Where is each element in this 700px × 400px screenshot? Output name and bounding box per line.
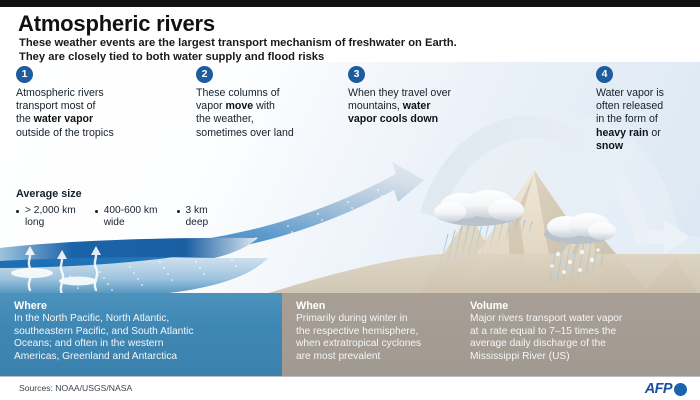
step-3-highlight-a: water [403,100,431,112]
average-size-item-width: 400-600 km wide [95,205,158,230]
afp-logo-text: AFP [645,381,672,397]
fact-panels: Where In the North Pacific, North Atlant… [0,293,700,376]
step-1-badge: 1 [16,66,33,83]
step-2-line3: the weather, [196,113,254,125]
step-2-badge: 2 [196,66,213,83]
panel-where: Where In the North Pacific, North Atlant… [0,293,282,376]
step-4-badge: 4 [596,66,613,83]
step-1-line1: Atmospheric rivers [16,87,104,99]
step-1-line2: transport most of [16,100,95,112]
step-4-highlight-a: heavy rain [596,127,648,139]
step-4-line2: often released [596,100,663,112]
step-1: 1 Atmospheric riverstransport most ofthe… [16,66,166,140]
average-size-item-depth: 3 km deep [177,205,209,230]
step-4-highlight-b: snow [596,140,623,152]
panel-where-heading: Where [14,300,273,312]
panel-where-body: In the North Pacific, North Atlantic, so… [14,313,273,363]
average-size-items: > 2,000 km long 400-600 km wide 3 km dee… [16,205,266,230]
step-1-highlight: water vapor [34,113,93,125]
step-3: 3 When they travel overmountains, waterv… [348,66,508,127]
step-4-line1: Water vapor is [596,87,664,99]
step-2-line2-pre: vapor [196,100,225,112]
page-subtitle: These weather events are the largest tra… [19,37,457,64]
step-4: 4 Water vapor isoften releasedin the for… [596,66,692,153]
sources-text: Sources: NOAA/USGS/NASA [19,383,132,393]
panel-volume-heading: Volume [470,300,691,312]
step-2-text: These columns ofvapor move withthe weath… [196,87,336,140]
infographic-root: Atmospheric rivers These weather events … [0,0,700,400]
step-3-badge: 3 [348,66,365,83]
step-2: 2 These columns ofvapor move withthe wea… [196,66,336,140]
coastal-plain [262,254,700,295]
panel-when: When Primarily during winter in the resp… [282,293,456,376]
step-4-line3: in the form of [596,113,658,125]
panel-volume: Volume Major rivers transport water vapo… [456,293,700,376]
step-2-highlight: move [225,100,253,112]
footer: Sources: NOAA/USGS/NASA AFP [0,376,700,400]
step-3-text: When they travel overmountains, watervap… [348,87,508,127]
average-size-item-length: > 2,000 km long [16,205,76,230]
step-1-line3-pre: the [16,113,34,125]
panel-when-heading: When [296,300,447,312]
step-4-text: Water vapor isoften releasedin the form … [596,87,692,153]
average-size-title: Average size [16,188,266,200]
top-black-bar [0,0,700,7]
step-3-highlight-b: vapor cools down [348,113,438,125]
step-1-text: Atmospheric riverstransport most ofthe w… [16,87,166,140]
step-3-line2-pre: mountains, [348,100,403,112]
step-3-line1: When they travel over [348,87,451,99]
panel-volume-body: Major rivers transport water vapor at a … [470,313,691,363]
step-2-line1: These columns of [196,87,280,99]
panel-when-body: Primarily during winter in the respectiv… [296,313,447,363]
step-1-line4: outside of the tropics [16,127,114,139]
step-2-line4: sometimes over land [196,127,294,139]
step-4-line4-post: or [648,127,660,139]
afp-logo: AFP [645,381,687,397]
average-size-legend: Average size > 2,000 km long 400-600 km … [16,188,266,230]
page-title: Atmospheric rivers [18,11,215,37]
steps-list: 1 Atmospheric riverstransport most ofthe… [0,66,700,156]
afp-logo-dot-icon [674,383,687,396]
step-2-line2-post: with [253,100,275,112]
